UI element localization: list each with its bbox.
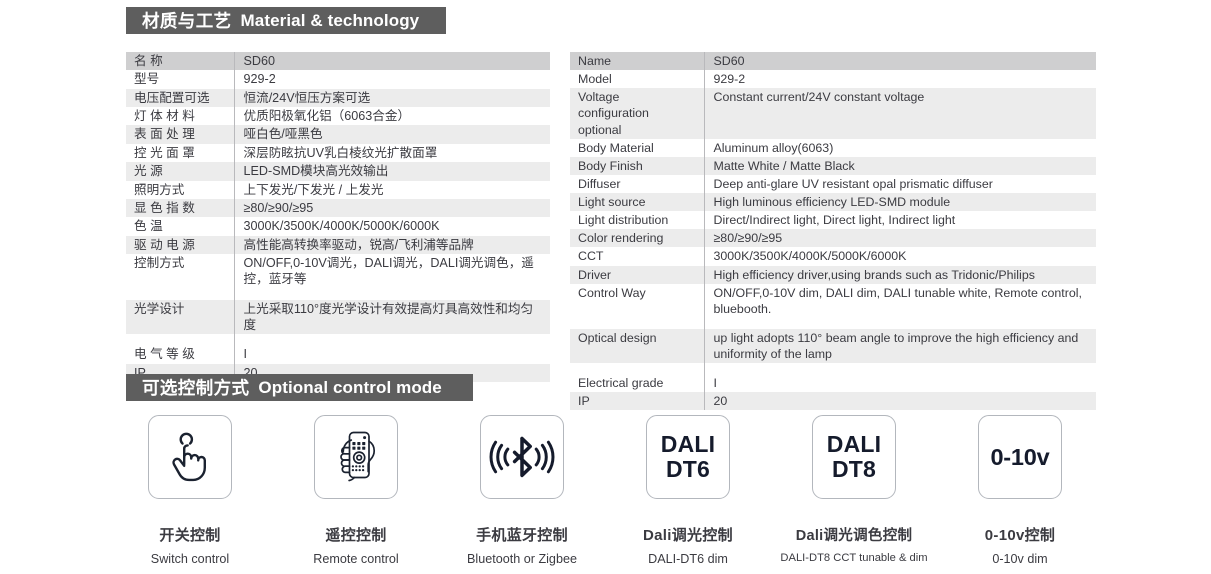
- table-row: Color rendering ≥80/≥90/≥95: [570, 229, 1096, 247]
- table-row: 照明方式 上下发光/下发光 / 上发光: [126, 181, 550, 199]
- spec-key: 显 色 指 数: [126, 199, 234, 217]
- spec-key: CCT: [570, 247, 704, 265]
- spec-key: Electrical grade: [570, 374, 704, 392]
- table-row: 表 面 处 理 哑白色/哑黑色: [126, 125, 550, 143]
- table-row: Optical design up light adopts 110° beam…: [570, 329, 1096, 363]
- table-row: 光 源 LED-SMD模块高光效输出: [126, 162, 550, 180]
- spec-value: 929-2: [704, 70, 1096, 88]
- bluetooth-signal-icon: [489, 434, 555, 480]
- table-row: 电压配置可选 恒流/24V恒压方案可选: [126, 89, 550, 107]
- spec-key: 控 光 面 罩: [126, 144, 234, 162]
- control-mode-bluetooth-box[interactable]: [480, 415, 564, 499]
- spec-key: Body Material: [570, 139, 704, 157]
- spec-key: 光学设计: [126, 300, 234, 335]
- control-mode-dali-dt8-label-en: DALI-DT8 CCT tunable & dim: [780, 552, 927, 564]
- control-mode-dali-dt6-label-en: DALI-DT6 dim: [648, 552, 728, 566]
- dali-dt6-line2: DT6: [661, 457, 715, 482]
- spec-value: 上光采取110°度光学设计有效提高灯具高效性和均匀度: [234, 300, 550, 335]
- spec-value: Direct/Indirect light, Direct light, Ind…: [704, 211, 1096, 229]
- spec-key: Light distribution: [570, 211, 704, 229]
- table-row: Electrical grade I: [570, 374, 1096, 392]
- table-row: Light distribution Direct/Indirect light…: [570, 211, 1096, 229]
- table-row-spacer: [126, 334, 550, 345]
- spec-value: 上下发光/下发光 / 上发光: [234, 181, 550, 199]
- section-header-control-mode: 可选控制方式 Optional control mode: [126, 374, 473, 401]
- table-row-spacer: [570, 318, 1096, 329]
- table-row: 电 气 等 级 I: [126, 345, 550, 363]
- section-header-control-cn: 可选控制方式: [142, 375, 249, 400]
- control-mode-switch-label-cn: 开关控制: [159, 524, 220, 545]
- control-mode-remote-box[interactable]: [314, 415, 398, 499]
- spec-value: I: [234, 345, 550, 363]
- table-row-spacer: [126, 289, 550, 300]
- spec-value: 929-2: [234, 70, 550, 88]
- spec-value: ≥80/≥90/≥95: [704, 229, 1096, 247]
- dali-dt6-icon: DALI DT6: [661, 432, 715, 482]
- spec-key: IP: [570, 392, 704, 410]
- table-row: 型号 929-2: [126, 70, 550, 88]
- control-mode-dali-dt8-box[interactable]: DALI DT8: [812, 415, 896, 499]
- spec-value: I: [704, 374, 1096, 392]
- table-row: 控制方式 ON/OFF,0-10V调光，DALI调光，DALI调光调色，遥控，蓝…: [126, 254, 550, 289]
- spec-key: 照明方式: [126, 181, 234, 199]
- spec-key-text: Voltage configuration optional: [578, 89, 698, 137]
- spec-value: 恒流/24V恒压方案可选: [234, 89, 550, 107]
- spec-key: Driver: [570, 266, 704, 284]
- table-row: 控 光 面 罩 深层防眩抗UV乳白棱纹光扩散面罩: [126, 144, 550, 162]
- spec-key: Light source: [570, 193, 704, 211]
- table-row: 驱 动 电 源 高性能高转换率驱动，锐高/飞利浦等品牌: [126, 236, 550, 254]
- spec-table-english: Name SD60 Model 929-2 Voltage configurat…: [570, 52, 1096, 410]
- control-mode-bluetooth-label-cn: 手机蓝牙控制: [476, 524, 568, 545]
- spec-key: Color rendering: [570, 229, 704, 247]
- hand-tap-icon: [165, 431, 215, 483]
- control-mode-switch-box[interactable]: [148, 415, 232, 499]
- table-row: Control Way ON/OFF,0-10V dim, DALI dim, …: [570, 284, 1096, 318]
- spec-key: 电压配置可选: [126, 89, 234, 107]
- spec-key: 型号: [126, 70, 234, 88]
- spec-value: SD60: [234, 52, 550, 70]
- table-row: IP 20: [570, 392, 1096, 410]
- control-mode-dali-dt6-label-cn: Dali调光控制: [643, 524, 733, 545]
- spec-value: High efficiency driver,using brands such…: [704, 266, 1096, 284]
- spec-table-chinese: 名 称 SD60 型号 929-2 电压配置可选 恒流/24V恒压方案可选 灯 …: [126, 52, 550, 382]
- spec-value: 哑白色/哑黑色: [234, 125, 550, 143]
- spec-value: up light adopts 110° beam angle to impro…: [704, 329, 1096, 363]
- spec-key: Model: [570, 70, 704, 88]
- spec-value: 高性能高转换率驱动，锐高/飞利浦等品牌: [234, 236, 550, 254]
- table-row: Body Finish Matte White / Matte Black: [570, 157, 1096, 175]
- spec-key: Diffuser: [570, 175, 704, 193]
- spec-value: ON/OFF,0-10V dim, DALI dim, DALI tunable…: [704, 284, 1096, 318]
- spec-key: 灯 体 材 料: [126, 107, 234, 125]
- spec-value: Constant current/24V constant voltage: [704, 88, 1096, 138]
- spec-value: ON/OFF,0-10V调光，DALI调光，DALI调光调色，遥控，蓝牙等: [234, 254, 550, 289]
- spec-key: Voltage configuration optional: [570, 88, 704, 138]
- spec-key: 表 面 处 理: [126, 125, 234, 143]
- table-row: 光学设计 上光采取110°度光学设计有效提高灯具高效性和均匀度: [126, 300, 550, 335]
- table-row: 名 称 SD60: [126, 52, 550, 70]
- spec-value: 优质阳极氧化铝（6063合金）: [234, 107, 550, 125]
- dali-dt8-icon: DALI DT8: [827, 432, 881, 482]
- spec-value: Deep anti-glare UV resistant opal prisma…: [704, 175, 1096, 193]
- table-row: Voltage configuration optional Constant …: [570, 88, 1096, 138]
- spec-value: LED-SMD模块高光效输出: [234, 162, 550, 180]
- spec-value: 深层防眩抗UV乳白棱纹光扩散面罩: [234, 144, 550, 162]
- spec-value: 20: [704, 392, 1096, 410]
- control-mode-remote[interactable]: 遥控控制 Remote control: [286, 415, 426, 566]
- control-mode-0-10v-box[interactable]: 0-10v: [978, 415, 1062, 499]
- spec-key: Body Finish: [570, 157, 704, 175]
- control-mode-dali-dt8[interactable]: DALI DT8 Dali调光调色控制 DALI-DT8 CCT tunable…: [784, 415, 924, 566]
- zero-ten-volt-icon: 0-10v: [990, 444, 1049, 471]
- dali-dt6-line1: DALI: [661, 431, 715, 457]
- dali-dt8-line1: DALI: [827, 431, 881, 457]
- table-row: Name SD60: [570, 52, 1096, 70]
- spec-key: 电 气 等 级: [126, 345, 234, 363]
- section-header-material-cn: 材质与工艺: [142, 8, 232, 33]
- spec-value: Aluminum alloy(6063): [704, 139, 1096, 157]
- control-mode-remote-label-en: Remote control: [313, 552, 398, 566]
- spec-key: 色 温: [126, 217, 234, 235]
- control-mode-dali-dt6-box[interactable]: DALI DT6: [646, 415, 730, 499]
- spec-key: 光 源: [126, 162, 234, 180]
- table-row: Diffuser Deep anti-glare UV resistant op…: [570, 175, 1096, 193]
- spec-key: 驱 动 电 源: [126, 236, 234, 254]
- control-mode-dali-dt6[interactable]: DALI DT6 Dali调光控制 DALI-DT6 dim: [618, 415, 758, 566]
- spec-value: High luminous efficiency LED-SMD module: [704, 193, 1096, 211]
- section-header-control-en: Optional control mode: [258, 378, 441, 398]
- control-mode-bluetooth-label-en: Bluetooth or Zigbee: [467, 552, 577, 566]
- control-mode-switch-label-en: Switch control: [151, 552, 229, 566]
- spec-key: Optical design: [570, 329, 704, 363]
- table-row: Model 929-2: [570, 70, 1096, 88]
- control-mode-0-10v-label-en: 0-10v dim: [992, 552, 1047, 566]
- control-mode-0-10v-label-cn: 0-10v控制: [985, 524, 1055, 545]
- spec-value: 3000K/3500K/4000K/5000K/6000K: [704, 247, 1096, 265]
- table-row: CCT 3000K/3500K/4000K/5000K/6000K: [570, 247, 1096, 265]
- control-mode-switch[interactable]: 开关控制 Switch control: [120, 415, 260, 566]
- table-row-spacer: [570, 363, 1096, 374]
- control-mode-bluetooth[interactable]: 手机蓝牙控制 Bluetooth or Zigbee: [452, 415, 592, 566]
- table-row: 色 温 3000K/3500K/4000K/5000K/6000K: [126, 217, 550, 235]
- remote-control-icon: [329, 429, 383, 485]
- table-row: Driver High efficiency driver,using bran…: [570, 266, 1096, 284]
- table-row: Light source High luminous efficiency LE…: [570, 193, 1096, 211]
- table-row: 显 色 指 数 ≥80/≥90/≥95: [126, 199, 550, 217]
- spec-key: Name: [570, 52, 704, 70]
- control-mode-dali-dt8-label-cn: Dali调光调色控制: [796, 524, 913, 545]
- table-row: 灯 体 材 料 优质阳极氧化铝（6063合金）: [126, 107, 550, 125]
- control-mode-list: 开关控制 Switch control: [120, 415, 1090, 566]
- spec-value: Matte White / Matte Black: [704, 157, 1096, 175]
- spec-value: 3000K/3500K/4000K/5000K/6000K: [234, 217, 550, 235]
- spec-key: 控制方式: [126, 254, 234, 289]
- spec-key: 名 称: [126, 52, 234, 70]
- table-row: Body Material Aluminum alloy(6063): [570, 139, 1096, 157]
- spec-key: Control Way: [570, 284, 704, 318]
- section-header-material-en: Material & technology: [241, 11, 420, 31]
- dali-dt8-line2: DT8: [827, 457, 881, 482]
- section-header-material: 材质与工艺 Material & technology: [126, 7, 446, 34]
- control-mode-0-10v[interactable]: 0-10v 0-10v控制 0-10v dim: [950, 415, 1090, 566]
- spec-value: ≥80/≥90/≥95: [234, 199, 550, 217]
- spec-value: SD60: [704, 52, 1096, 70]
- control-mode-remote-label-cn: 遥控控制: [325, 524, 386, 545]
